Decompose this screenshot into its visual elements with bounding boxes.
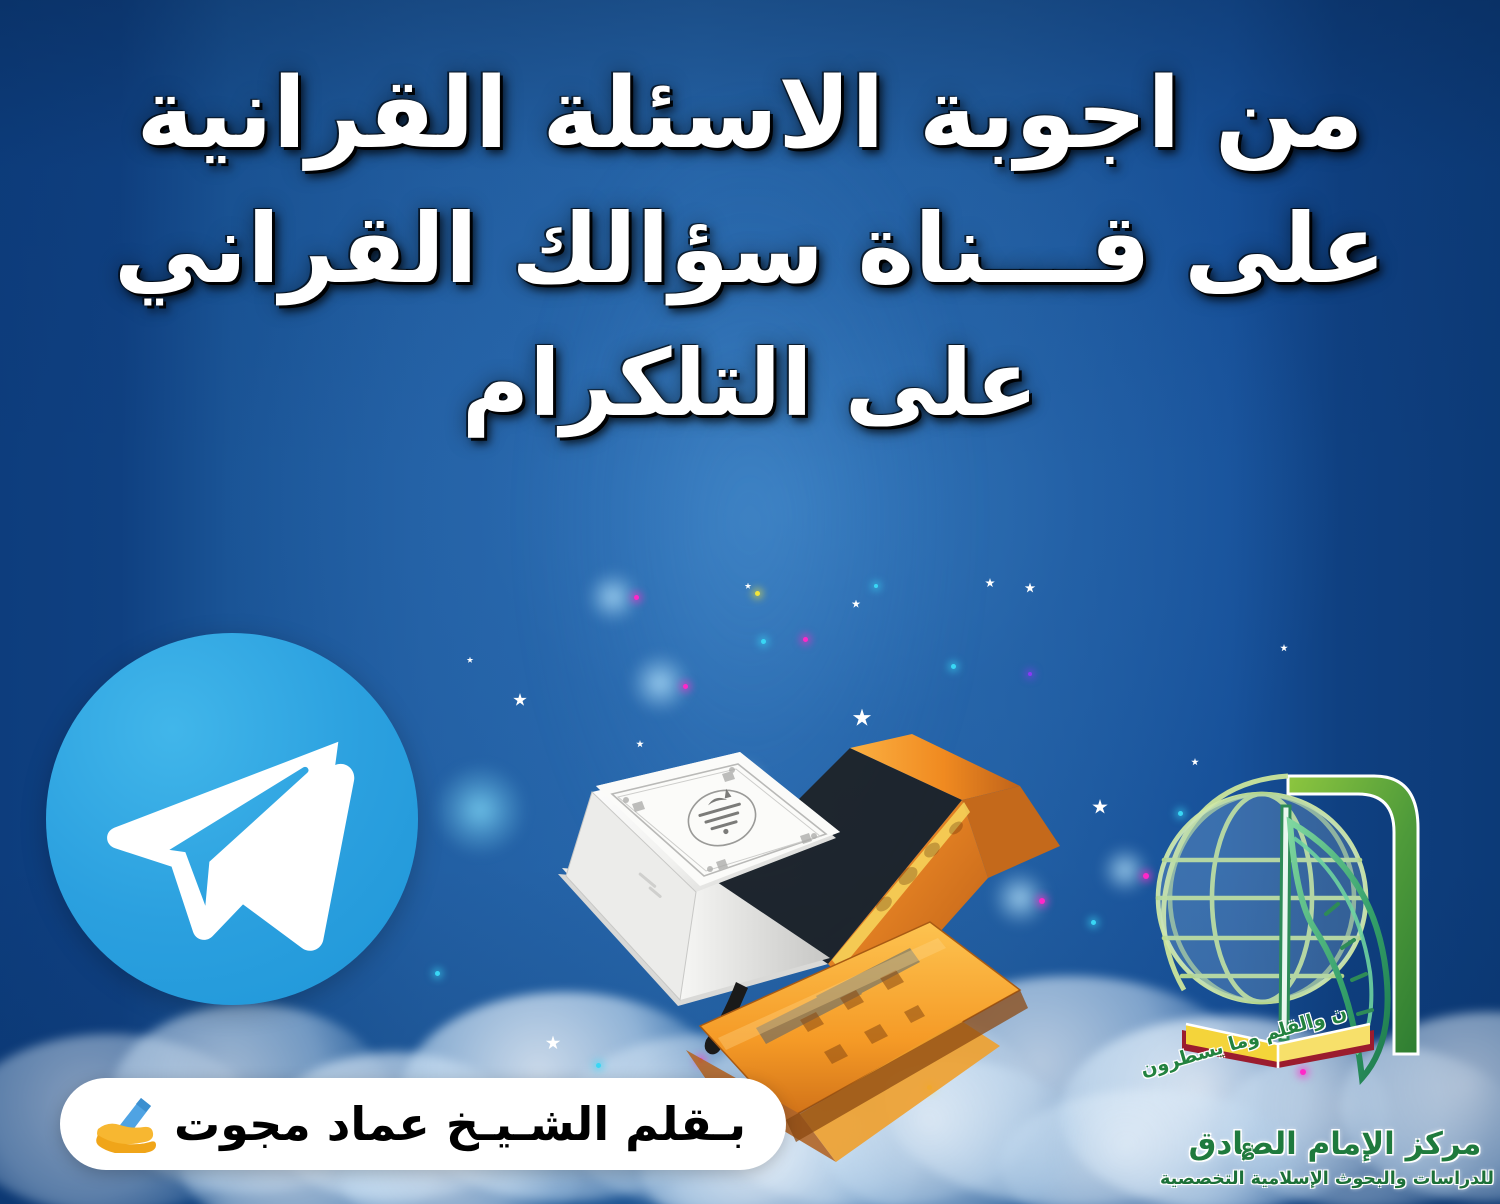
telegram-paper-plane-icon [46, 633, 418, 1005]
writing-hand-emoji [94, 1095, 156, 1153]
headline-block: من اجوبة الاسئلة القرانية على قـــناة سؤ… [0, 58, 1500, 438]
headline-line-3: على التلكرام [0, 331, 1500, 438]
author-name-text: بـقلم الشـيـخ عماد مجوت [174, 1101, 746, 1147]
telegram-logo-icon[interactable] [46, 633, 418, 1005]
headline-line-1: من اجوبة الاسئلة القرانية [0, 58, 1500, 172]
imam-sadiq-center-logo [1130, 762, 1460, 1142]
author-banner: بـقلم الشـيـخ عماد مجوت [60, 1078, 786, 1170]
logo-title-text: مركز الإمام الصادق [1180, 1129, 1490, 1160]
poster-root: من اجوبة الاسئلة القرانية على قـــناة سؤ… [0, 0, 1500, 1204]
headline-line-2: على قـــناة سؤالك القراني [0, 194, 1500, 305]
logo-honorific-icon: ؏ [1242, 1134, 1254, 1158]
logo-subtitle-text: للدراسات والبحوث الإسلامية التخصصية [1176, 1171, 1494, 1189]
